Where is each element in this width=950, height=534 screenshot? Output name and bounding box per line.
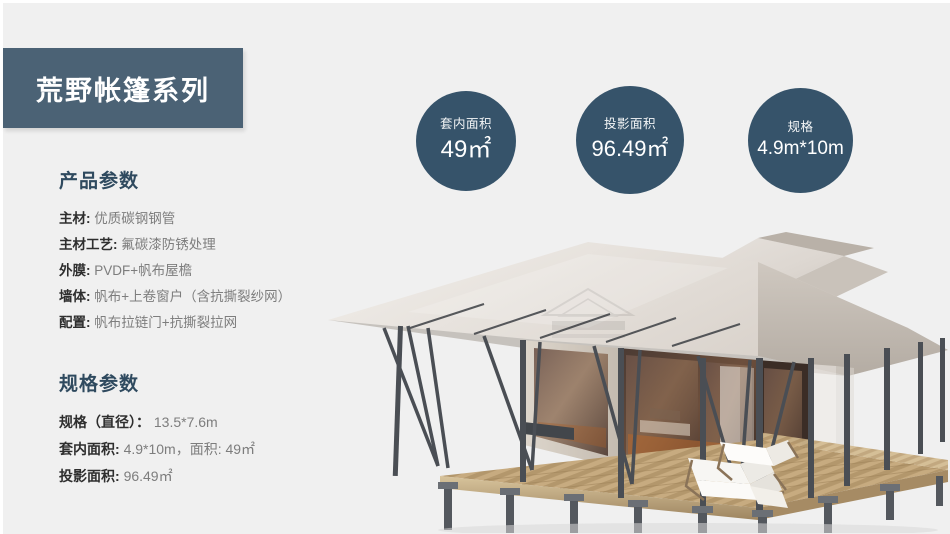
param-value: 优质碳钢钢管: [94, 211, 175, 226]
badge-label: 投影面积: [604, 118, 656, 132]
param-label: 配置:: [59, 315, 91, 330]
spec-label: 投影面积:: [59, 468, 120, 484]
badge-value: 96.49㎡: [591, 136, 668, 161]
badge-interior-area: 套内面积 49㎡: [416, 91, 516, 191]
param-value: PVDF+帆布屋檐: [94, 263, 192, 278]
glamping-tent-render: [288, 208, 950, 533]
param-value: 帆布拉链门+抗撕裂拉网: [94, 315, 237, 330]
product-params-heading: 产品参数: [59, 166, 389, 193]
param-label: 主材工艺:: [59, 237, 118, 252]
param-value: 帆布+上卷窗户（含抗撕裂纱网）: [94, 289, 291, 304]
badge-value: 4.9m*10m: [757, 138, 844, 160]
page-title: 荒野帐篷系列: [36, 69, 210, 108]
badge-dimensions: 规格 4.9m*10m: [748, 88, 853, 193]
param-label: 外膜:: [59, 263, 91, 278]
param-label: 墙体:: [59, 289, 91, 304]
title-banner: 荒野帐篷系列: [3, 48, 243, 128]
badge-value: 49㎡: [441, 136, 492, 164]
spec-label: 套内面积:: [59, 441, 120, 457]
param-value: 氟碳漆防锈处理: [121, 237, 216, 252]
spec-value: 96.49㎡: [124, 468, 173, 484]
spec-value: 4.9*10m，面积: 49㎡: [124, 441, 256, 457]
param-label: 主材:: [59, 211, 91, 226]
badge-label: 套内面积: [440, 118, 492, 132]
slide-canvas: 荒野帐篷系列 产品参数 主材: 优质碳钢钢管 主材工艺: 氟碳漆防锈处理 外膜:…: [0, 0, 950, 534]
badge-projected-area: 投影面积 96.49㎡: [576, 86, 684, 194]
spec-value: 13.5*7.6m: [154, 414, 218, 430]
badge-label: 规格: [787, 121, 813, 135]
spec-label: 规格（直径）：: [59, 414, 150, 430]
tent-illustration: [288, 208, 950, 533]
